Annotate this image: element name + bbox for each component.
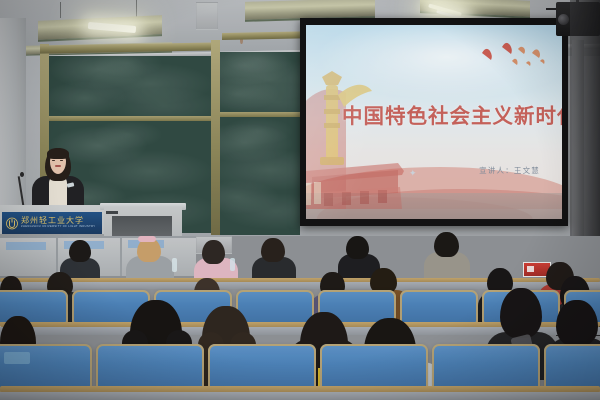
seat-back (208, 344, 316, 392)
student-head (261, 238, 285, 262)
seat-trim (96, 344, 204, 392)
presenter-mouth (55, 165, 61, 167)
student-head (434, 232, 459, 257)
water-bottle (230, 258, 235, 271)
seat-back (320, 344, 428, 392)
student-r1-4 (252, 238, 296, 280)
university-name-cn: 郑州轻工业大学 (21, 217, 95, 225)
tiananmen-illustration (306, 59, 414, 209)
seat-trim (208, 344, 316, 392)
blackboard-panel-upper-left (49, 56, 213, 118)
student-head (69, 240, 91, 262)
student-r1-6 (424, 232, 470, 276)
presenter (28, 148, 88, 210)
ceiling-vent-box (196, 2, 218, 30)
seat-trim (432, 344, 540, 392)
teacher-desk-panel-label (106, 211, 118, 214)
blackboard-panel-upper-mid (220, 52, 300, 114)
projection-screen: ✦ 中国特色社会主义新时代 宣讲人：王文慧 (306, 25, 562, 219)
student-r1-2 (126, 238, 174, 280)
student-head (202, 240, 225, 264)
right-shadow-area (570, 0, 600, 250)
projection-screen-border: ✦ 中国特色社会主义新时代 宣讲人：王文慧 (300, 18, 568, 226)
hair-clip (138, 236, 156, 242)
water-bottle (172, 258, 177, 272)
seat-back (96, 344, 204, 392)
student-head (346, 236, 369, 259)
blackboard-panel-lower-mid (220, 117, 300, 235)
seat-back (544, 344, 600, 392)
cabinet-divider (120, 236, 122, 276)
university-name-en: ZHENGZHOU UNIVERSITY OF LIGHT INDUSTRY (21, 226, 95, 229)
university-banner: 郑州轻工业大学 ZHENGZHOU UNIVERSITY OF LIGHT IN… (2, 212, 102, 234)
lecture-hall-photo: ✦ 中国特色社会主义新时代 宣讲人：王文慧 郑州轻工业大学 (0, 0, 600, 400)
student-head (500, 288, 542, 338)
notebook-on-desk (4, 352, 30, 364)
seat-trim (320, 344, 428, 392)
university-logo-icon (6, 217, 18, 230)
projector-lens-icon (558, 14, 569, 25)
light-hanger-rod (60, 2, 61, 18)
microphone-head-icon (20, 172, 24, 177)
slide-presenter-line: 宣讲人：王文慧 (479, 165, 540, 176)
cabinet-label-panel (6, 242, 46, 250)
seat-back (432, 344, 540, 392)
student-head (556, 300, 598, 346)
cabinet-divider (56, 236, 58, 276)
slide-sparkle-icon: ✦ (409, 168, 417, 179)
seat-trim (544, 344, 600, 392)
blackboard-frame-mid (211, 40, 220, 235)
presenter-hair-fringe (47, 148, 69, 159)
slide-title: 中国特色社会主义新时代 (342, 99, 562, 129)
desk-shelf (0, 392, 600, 400)
